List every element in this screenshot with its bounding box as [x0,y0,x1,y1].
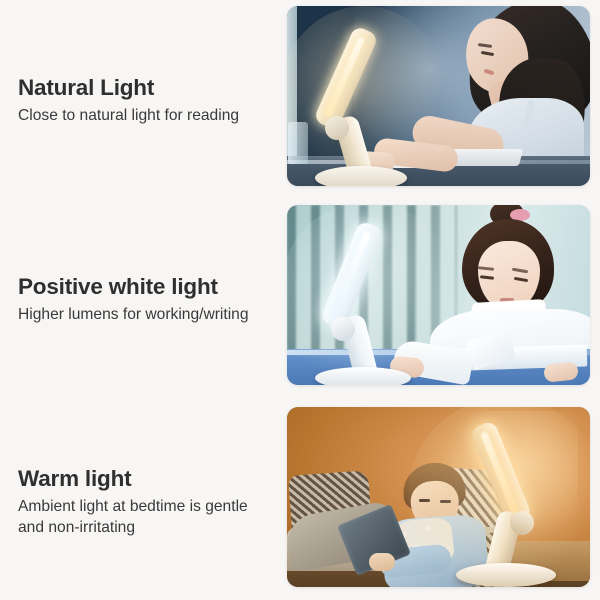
folding-led-lamp [305,221,429,385]
feature-title: Natural Light [18,75,280,102]
scene-woman-at-desk [287,6,590,186]
product-feature-page: Natural Light Close to natural light for… [0,0,600,600]
feature-subtitle: Higher lumens for working/writing [18,305,270,326]
folding-led-lamp [303,24,423,186]
feature-subtitle: Close to natural light for reading [18,106,270,127]
boy-hand [369,553,395,571]
lamp-base [315,166,407,186]
folding-led-lamp [442,419,570,587]
scene-girl-reading [287,205,590,385]
lamp-base [456,563,556,587]
lamp-hinge [325,116,349,140]
feature-copy-natural-light: Natural Light Close to natural light for… [18,3,280,199]
feature-title: Positive white light [18,274,280,301]
feature-image-natural-light[interactable] [287,6,590,186]
feature-row-natural-light: Natural Light Close to natural light for… [0,3,600,199]
feature-copy-warm-light: Warm light Ambient light at bedtime is g… [18,404,280,600]
feature-row-warm-light: Warm light Ambient light at bedtime is g… [0,404,600,600]
scene-boy-in-bed [287,407,590,587]
feature-subtitle: Ambient light at bedtime is gentle and n… [18,497,270,538]
feature-copy-positive-white-light: Positive white light Higher lumens for w… [18,202,280,398]
feature-image-positive-white-light[interactable] [287,205,590,385]
boy-eye-left [419,499,430,502]
lamp-hinge [510,511,534,535]
lamp-base [315,367,411,385]
feature-image-warm-light[interactable] [287,407,590,587]
lamp-hinge [331,317,355,341]
feature-title: Warm light [18,466,280,493]
feature-row-positive-white-light: Positive white light Higher lumens for w… [0,202,600,398]
